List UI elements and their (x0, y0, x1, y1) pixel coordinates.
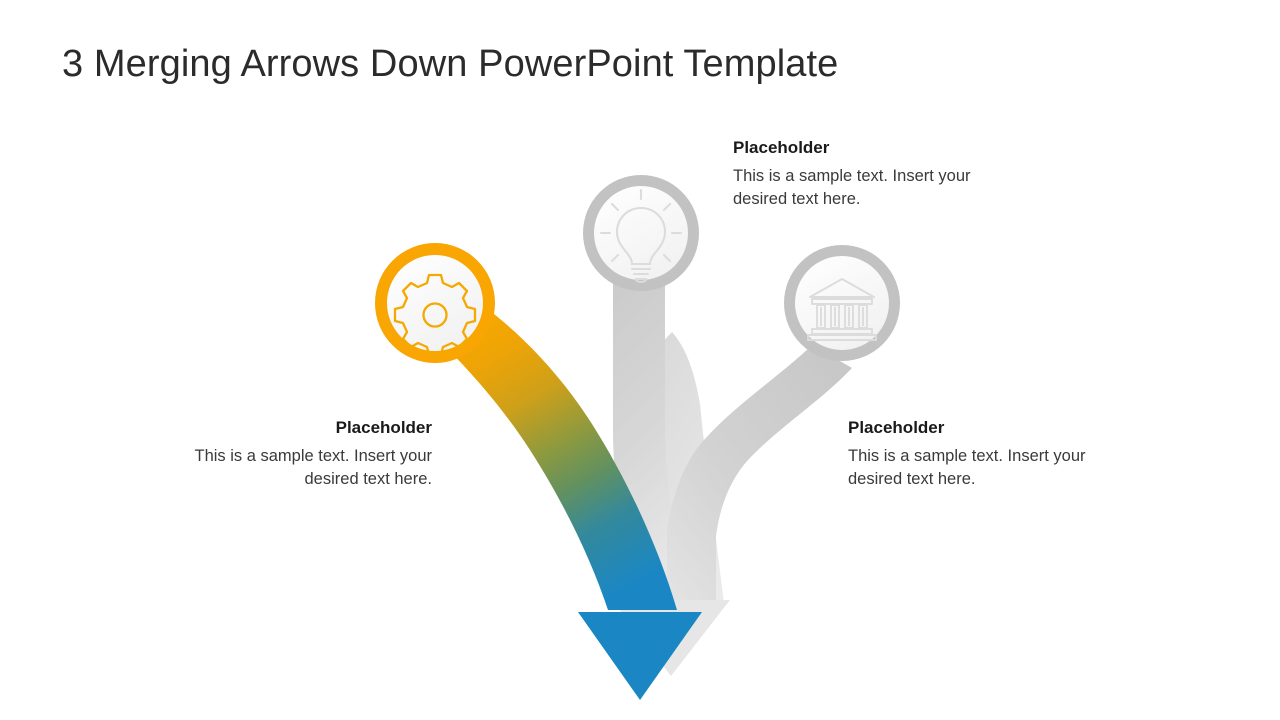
text-block-top: Placeholder This is a sample text. Inser… (733, 138, 978, 211)
text-block-left: Placeholder This is a sample text. Inser… (182, 418, 432, 491)
block-right-title: Placeholder (848, 418, 1098, 438)
block-top-title: Placeholder (733, 138, 978, 158)
block-left-title: Placeholder (182, 418, 432, 438)
slide-canvas: 3 Merging Arrows Down PowerPoint Templat… (0, 0, 1280, 720)
block-top-body: This is a sample text. Insert your desir… (733, 165, 978, 212)
merging-arrows-diagram (0, 0, 1280, 720)
node-gear[interactable] (375, 243, 495, 363)
node-lightbulb[interactable] (583, 175, 699, 291)
block-left-body: This is a sample text. Insert your desir… (182, 445, 432, 492)
text-block-right: Placeholder This is a sample text. Inser… (848, 418, 1098, 491)
node-bank[interactable] (784, 245, 900, 361)
block-right-body: This is a sample text. Insert your desir… (848, 445, 1098, 492)
